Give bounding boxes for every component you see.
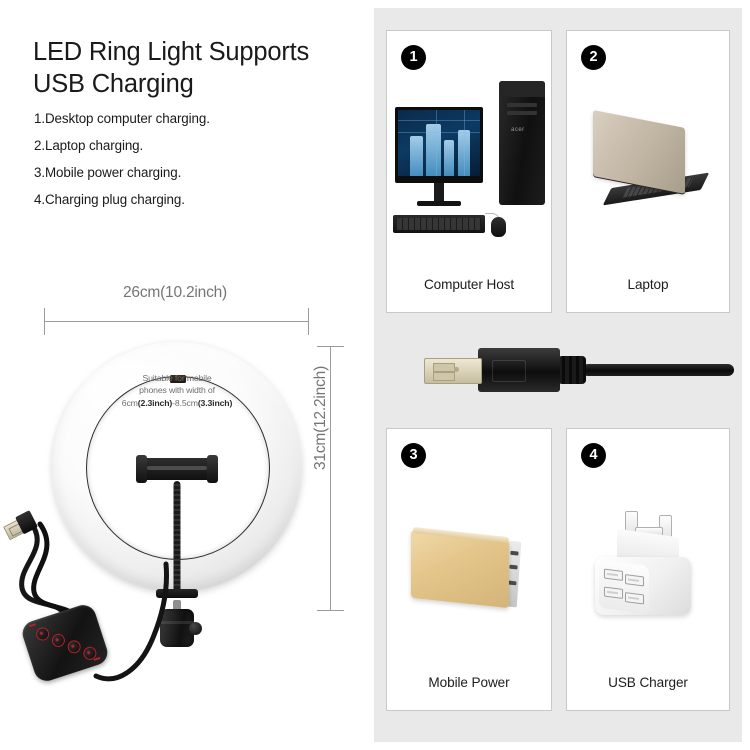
usb-charger-graphic [589, 511, 713, 621]
phone-width-note-line1: Suitable for mobile [142, 373, 211, 383]
pc-tower-top [499, 81, 545, 97]
usb-connector-emboss [492, 360, 526, 382]
screen-wallpaper-tower [444, 140, 454, 176]
screen-grid-line [398, 120, 480, 121]
monitor-stand-base [417, 201, 461, 206]
screen-grid-line [464, 110, 465, 176]
width-dimension-cap-right [308, 308, 309, 335]
phone-clamp [136, 455, 218, 483]
list-item: 1.Desktop computer charging. [34, 112, 354, 125]
usb-contact-slot [433, 363, 455, 372]
usb-cable-graphic [414, 338, 734, 400]
card-label: USB Charger [567, 675, 729, 690]
pc-drive-bay [507, 111, 537, 115]
desktop-computer-icon: acer [387, 75, 551, 261]
monitor-stand-neck [434, 183, 444, 203]
usb-cable-strain-relief [558, 356, 586, 384]
pc-brand-logo: acer [511, 127, 525, 133]
ball-head-lock-knob [189, 622, 202, 635]
controller-button-mode[interactable] [50, 632, 66, 648]
page-title: LED Ring Light Supports USB Charging [33, 36, 343, 101]
usage-cards-panel: 1 acer [374, 8, 742, 742]
phone-width-max-cm: 8.5cm [175, 398, 198, 408]
monitor-screen [398, 110, 480, 176]
height-dimension-cap-bottom [317, 610, 344, 611]
list-item: 2.Laptop charging. [34, 139, 354, 152]
pc-drive-bay [507, 103, 537, 107]
controller-accent-mark-1 [29, 623, 36, 627]
usb-tip-hole [454, 367, 459, 372]
screen-grid-line [398, 132, 480, 133]
phone-width-min-cm: 6cm [122, 398, 138, 408]
list-item: 3.Mobile power charging. [34, 166, 354, 179]
height-dimension-line [330, 346, 331, 611]
charger-port-face [599, 560, 649, 614]
power-bank-graphic [411, 525, 531, 617]
laptop-icon [567, 75, 729, 261]
screen-wallpaper-tower [410, 136, 423, 176]
card-label: Mobile Power [387, 675, 551, 690]
phone-width-min-inch: (2.3inch) [138, 398, 172, 408]
laptop-graphic [585, 119, 713, 215]
width-dimension-cap-left [44, 308, 45, 335]
usb-port [625, 574, 644, 586]
screen-grid-line [436, 110, 437, 176]
clamp-jaw-left [136, 455, 147, 483]
width-dimension-label: 26cm(10.2inch) [0, 284, 350, 302]
usb-port [625, 592, 644, 604]
usb-cable-wire [582, 364, 734, 376]
phone-width-note-line2: phones with width of [139, 385, 215, 395]
card-usb-charger[interactable]: 4 USB Charger [566, 428, 730, 711]
controller-accent-mark-2 [93, 657, 100, 661]
usb-connector-metal-tip [424, 358, 482, 384]
clamp-center-bar [147, 466, 207, 470]
badge-number: 2 [581, 45, 606, 70]
card-computer-host[interactable]: 1 acer [386, 30, 552, 313]
usb-connector-housing [478, 348, 560, 392]
card-laptop[interactable]: 2 Laptop [566, 30, 730, 313]
power-bank-port [508, 581, 516, 586]
list-item: 4.Charging plug charging. [34, 193, 354, 206]
height-dimension-label: 31cm(12.2inch) [312, 366, 330, 470]
keyboard-keys [397, 218, 481, 230]
controller-button-brightness[interactable] [66, 639, 82, 655]
left-content-column: LED Ring Light Supports USB Charging 1.D… [0, 0, 370, 750]
monitor [395, 107, 483, 183]
card-label: Laptop [567, 277, 729, 292]
mouse [491, 217, 506, 237]
usb-port [604, 569, 623, 581]
clamp-jaw-right [207, 455, 218, 483]
card-label: Computer Host [387, 277, 551, 292]
keyboard [393, 215, 485, 233]
usb-port [604, 587, 623, 599]
badge-number: 4 [581, 443, 606, 468]
phone-width-max-inch: (3.3inch) [198, 398, 232, 408]
usb-charger-icon [567, 473, 729, 659]
badge-number: 1 [401, 45, 426, 70]
power-bank-icon [387, 473, 551, 659]
usb-contact-slot [433, 372, 455, 381]
height-dimension-cap-top [317, 346, 344, 347]
card-mobile-power[interactable]: 3 Mobile Power [386, 428, 552, 711]
laptop-lid [593, 110, 685, 194]
infographic-root: LED Ring Light Supports USB Charging 1.D… [0, 0, 750, 750]
feature-list: 1.Desktop computer charging. 2.Laptop ch… [34, 112, 354, 220]
badge-number: 3 [401, 443, 426, 468]
pc-tower: acer [499, 81, 545, 205]
controller-button-power[interactable] [34, 626, 50, 642]
power-bank-port [510, 551, 518, 556]
phone-width-note: Suitable for mobile phones with width of… [100, 372, 255, 409]
width-dimension-line [44, 321, 309, 322]
power-bank-port [509, 565, 517, 570]
